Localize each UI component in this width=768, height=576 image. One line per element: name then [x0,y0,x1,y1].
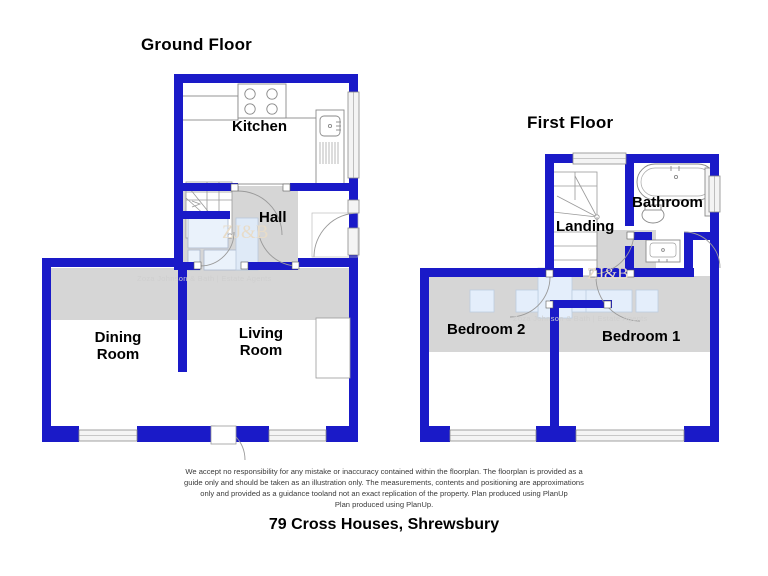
room-label-living-line2: Room [226,343,296,360]
ground-floor-plan [42,74,359,460]
disclaimer-line-1: We accept no responsibility for any mist… [104,466,664,477]
watermark-tagline-first: Zoza Johnson & Bath | Estate Agents [513,314,648,323]
watermark-logo-first: ZJ&B [587,264,629,284]
living-room-recess [316,318,350,378]
watermark-tagline-ground: Zoza Johnson & Bath | Estate Agents [137,274,272,283]
disclaimer: We accept no responsibility for any mist… [104,466,664,510]
room-label-dining-line2: Room [83,347,153,364]
room-label-landing: Landing [556,219,614,235]
floorplan-page: Ground Floor First Floor [0,0,768,576]
property-address: 79 Cross Houses, Shrewsbury [0,516,768,534]
watermark-logo-ground: ZJ&B [222,222,268,244]
room-label-dining-line1: Dining [83,330,153,347]
disclaimer-line-3: only and provided as a guidance tooland … [104,488,664,499]
room-label-kitchen: Kitchen [232,119,287,135]
room-label-bedroom-1: Bedroom 1 [602,329,680,345]
room-label-dining-room: Dining Room [83,330,153,364]
room-label-bedroom-2: Bedroom 2 [447,322,525,338]
disclaimer-line-2: guide only and should be taken as an ill… [104,477,664,488]
room-label-living-room: Living Room [226,326,296,360]
room-label-bathroom: Bathroom [632,195,703,211]
disclaimer-line-4: Plan produced using PlanUp. [104,499,664,510]
room-label-living-line1: Living [226,326,296,343]
